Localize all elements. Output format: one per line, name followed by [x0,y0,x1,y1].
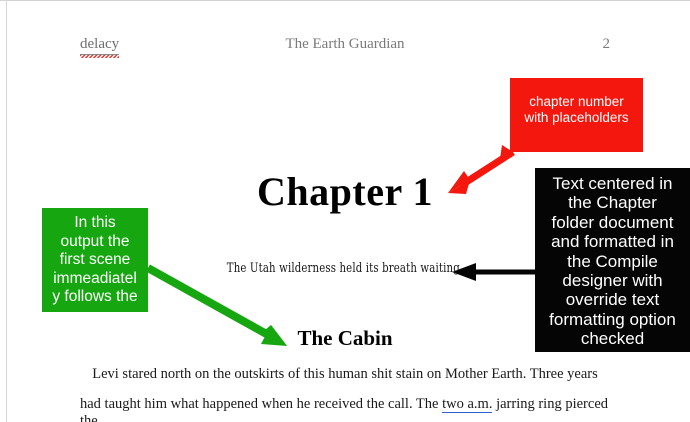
page-top-border [0,0,690,1]
body-text-before-mark: had taught him what happened when he rec… [80,396,442,412]
body-paragraph-line-2: had taught him what happened when he rec… [80,396,610,422]
body-paragraph-line-1: Levi stared north on the outskirts of th… [80,366,610,383]
callout-chapter-number: chapter number with placeholders [510,78,643,152]
header-page-number: 2 [603,36,611,53]
grammar-flagged-phrase[interactable]: two a.m. [442,396,492,413]
manuscript-page: delacy The Earth Guardian 2 Chapter 1 Th… [0,0,690,422]
running-header: delacy The Earth Guardian 2 [80,36,610,58]
header-book-title: The Earth Guardian [80,36,610,53]
callout-centered-text: Text centered in the Chapter folder docu… [535,168,690,352]
chapter-epigraph: The Utah wilderness held its breath wait… [76,261,614,276]
callout-first-scene: In this output the first scene immeadiat… [42,208,148,312]
